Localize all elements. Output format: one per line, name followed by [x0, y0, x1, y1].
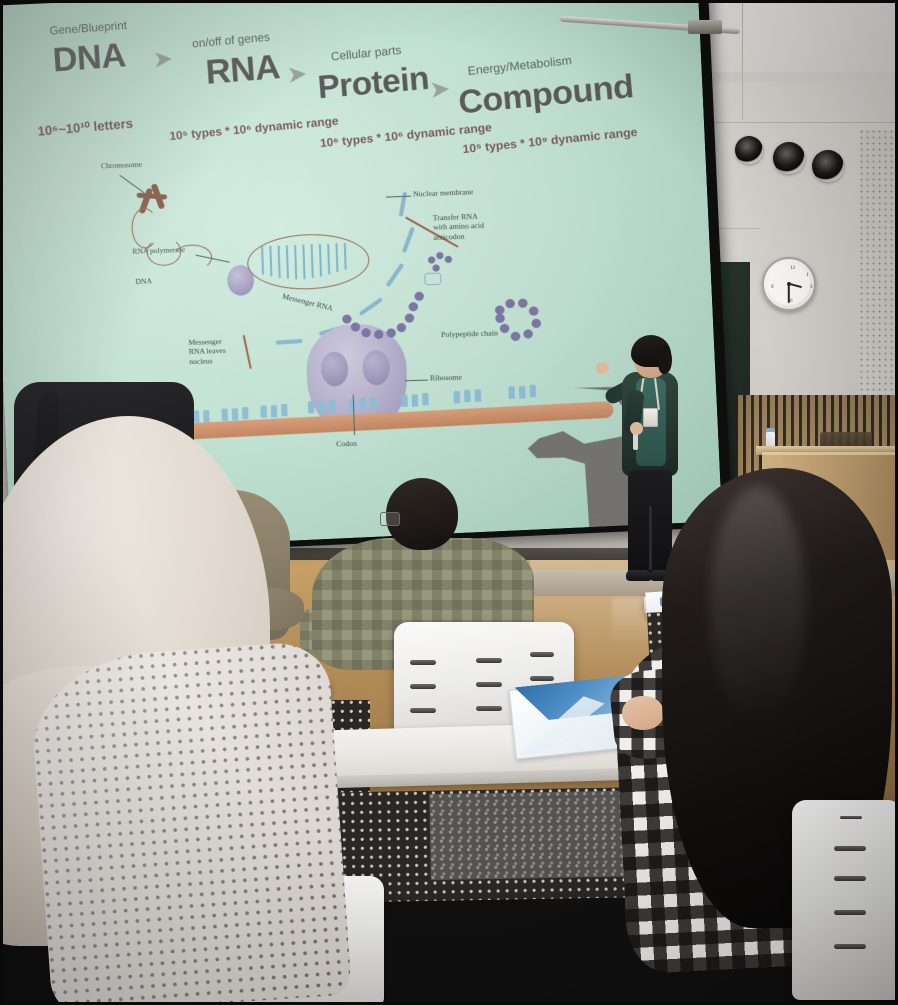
front-right-person-hand	[622, 696, 664, 730]
ceiling-vent-icon	[773, 142, 805, 174]
presenter-mic-hand	[630, 422, 643, 435]
clock-numeral: 6	[790, 299, 793, 304]
chair-right	[792, 800, 898, 1000]
ceiling-vent-icon	[812, 150, 844, 182]
clock-numeral: 3	[810, 285, 813, 290]
wall-clock: 12 1 3 6 9	[762, 257, 816, 311]
lecture-hall-photo: 12 1 3 6 9 Gene/Blueprint DNA	[0, 0, 898, 1005]
screen-roller-mechanism	[688, 20, 722, 34]
ceiling-vent-icon	[735, 136, 763, 164]
wall-seam	[742, 0, 743, 120]
hair-highlight	[710, 486, 806, 726]
clock-numeral: 12	[790, 266, 795, 271]
eyeglasses-icon	[380, 512, 400, 526]
presenter-badge	[643, 408, 658, 427]
clock-center-pin	[787, 282, 791, 286]
presenter-pointing-hand	[596, 362, 609, 374]
clock-numeral: 9	[771, 285, 774, 290]
clock-minute-hand	[788, 284, 790, 303]
presenter-hair-side	[658, 346, 672, 374]
clock-face: 12 1 3 6 9	[768, 263, 810, 305]
wall-seam	[700, 122, 898, 123]
polka-dot-top-shade	[28, 640, 352, 1005]
clock-numeral: 1	[806, 273, 809, 278]
